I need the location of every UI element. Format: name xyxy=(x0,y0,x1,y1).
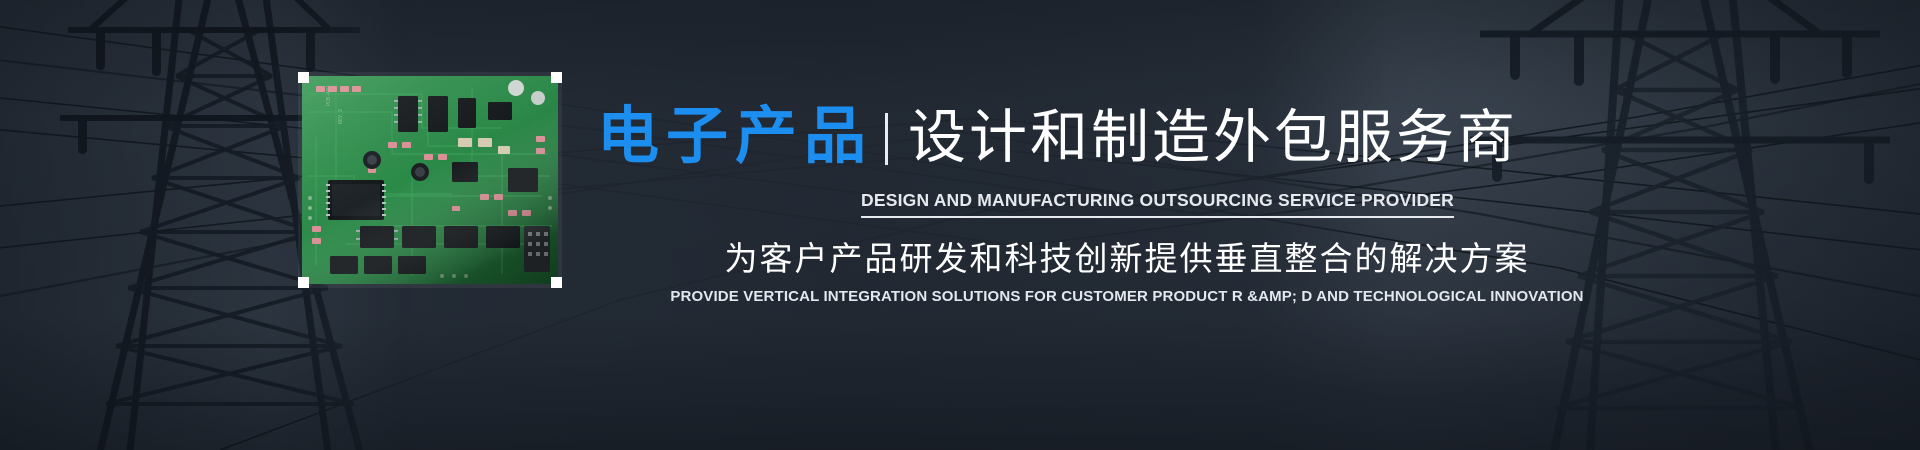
headline-main-text: 设计和制造外包服务商 xyxy=(908,109,1518,167)
subtitle-english: DESIGN AND MANUFACTURING OUTSOURCING SER… xyxy=(861,190,1454,218)
frame-corner-top-right-icon xyxy=(551,72,562,83)
frame-corner-bottom-left-icon xyxy=(298,277,309,288)
headline-divider xyxy=(885,113,888,165)
pcb-photo-card: PCB-A01 REV 2 xyxy=(298,72,562,288)
headline-accent-text: 电子产品 xyxy=(597,106,873,168)
tagline-chinese: 为客户产品研发和科技创新提供垂直整合的解决方案 xyxy=(597,232,1657,280)
tagline-english: PROVIDE VERTICAL INTEGRATION SOLUTIONS F… xyxy=(597,288,1657,305)
product-hero-banner: PCB-A01 REV 2 xyxy=(0,0,1920,450)
headline: 电子产品 设计和制造外包服务商 xyxy=(597,106,1518,168)
banner-copy: 电子产品 设计和制造外包服务商 DESIGN AND MANUFACTURING… xyxy=(597,0,1657,450)
frame-corner-bottom-right-icon xyxy=(551,277,562,288)
pcb-circuit-board-photo: PCB-A01 REV 2 xyxy=(302,76,558,284)
frame-corner-top-left-icon xyxy=(298,72,309,83)
